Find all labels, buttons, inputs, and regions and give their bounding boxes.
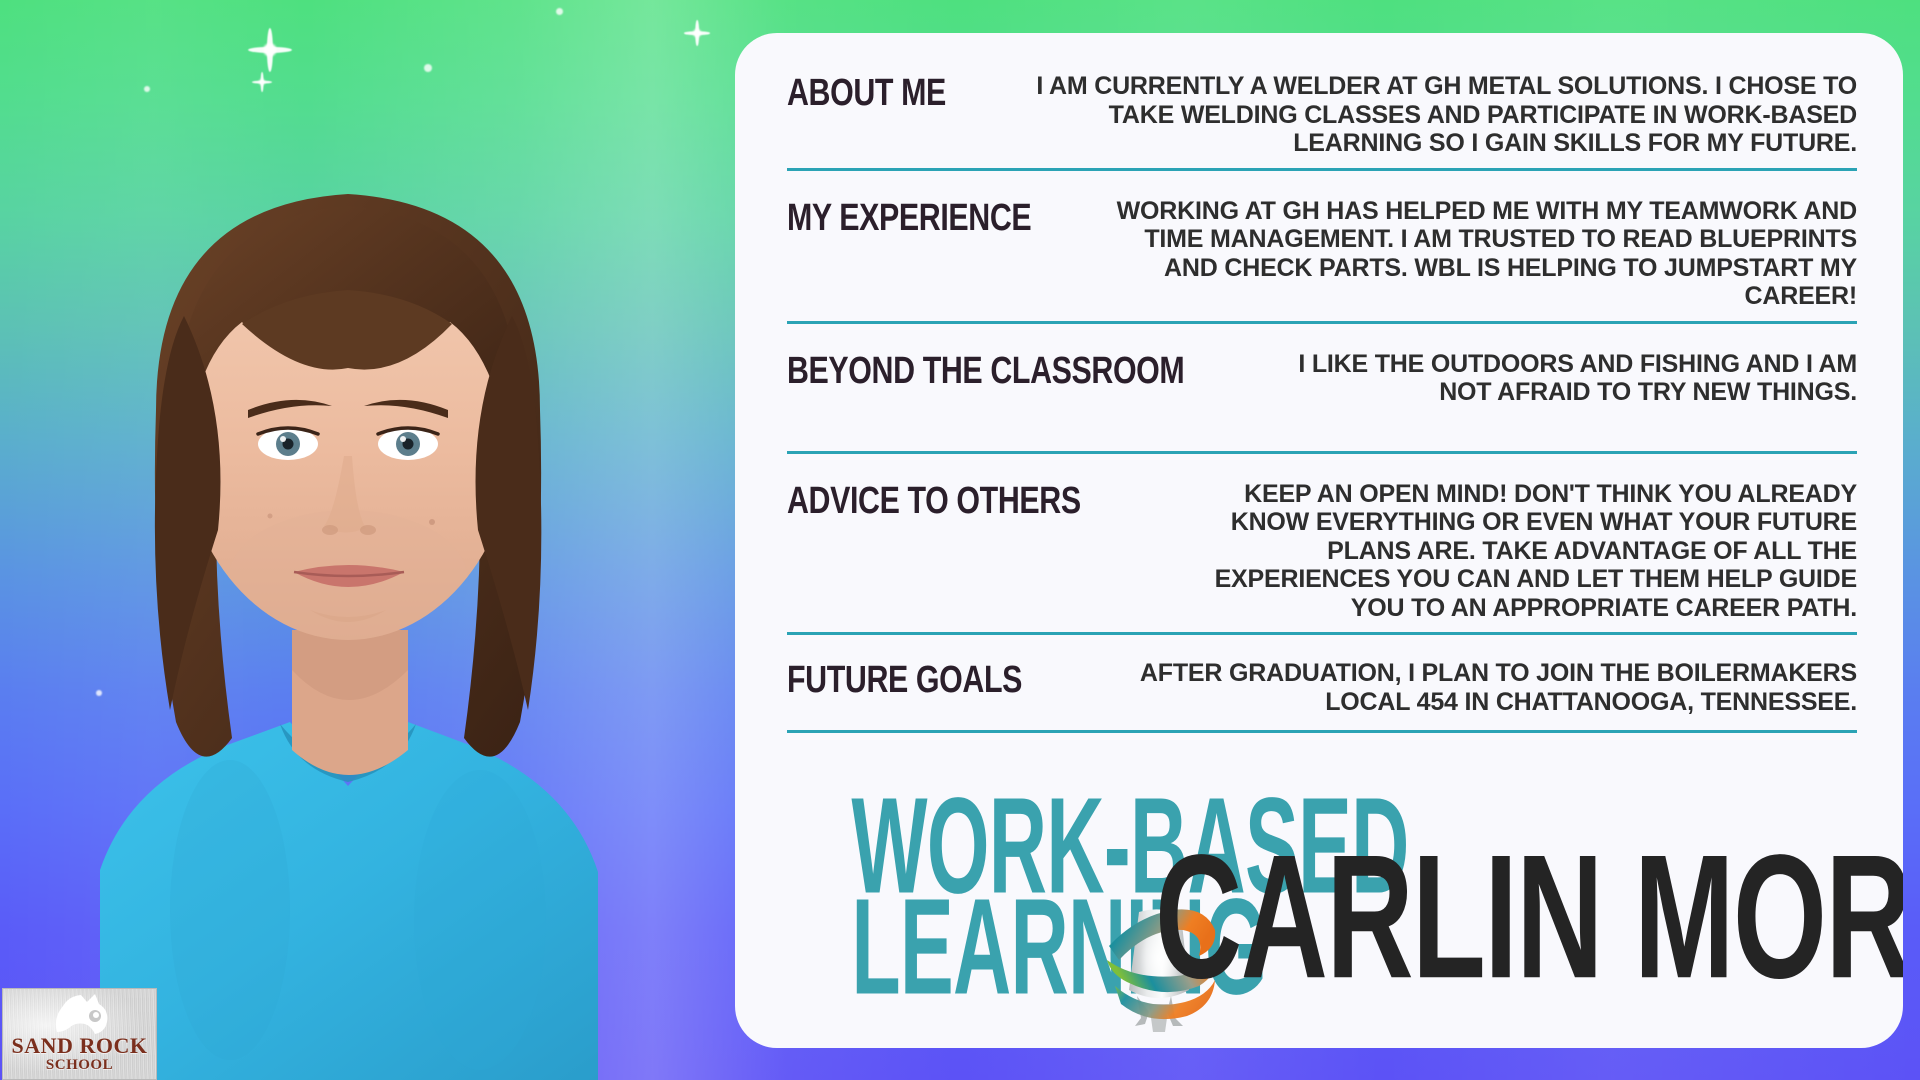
school-logo-badge: SAND ROCK SCHOOL [2,988,157,1080]
sparkle-icon [252,72,272,92]
section-title: ABOUT ME [787,72,946,111]
section-title: MY EXPERIENCE [787,197,1031,236]
section-divider [787,730,1857,733]
section-future-goals: FUTURE GOALS AFTER GRADUATION, I PLAN TO… [787,635,1857,733]
sparkle-dot-icon [300,520,307,527]
spotlight-graphic: SAND ROCK SCHOOL ABOUT ME I AM CURRENTLY… [0,0,1920,1080]
branding-area: WORK-BASED LEARNING [735,748,1903,1048]
sparkle-dot-icon [424,64,432,72]
section-body: I AM CURRENTLY A WELDER AT GH METAL SOLU… [1000,72,1857,158]
section-body: AFTER GRADUATION, I PLAN TO JOIN THE BOI… [1095,659,1857,716]
program-wordmark: WORK-BASED LEARNING [745,811,1125,1002]
section-title: ADVICE TO OTHERS [787,480,1081,519]
content-card: ABOUT ME I AM CURRENTLY A WELDER AT GH M… [735,33,1903,1048]
school-name-line2: SCHOOL [3,1057,156,1074]
sections-list: ABOUT ME I AM CURRENTLY A WELDER AT GH M… [787,68,1857,733]
sparkle-dot-icon [144,86,150,92]
section-my-experience: MY EXPERIENCE WORKING AT GH HAS HELPED M… [787,171,1857,324]
sparkle-dot-icon [556,8,563,15]
sparkle-icon [248,28,292,72]
wildcat-head-icon [51,992,113,1036]
section-advice-to-others: ADVICE TO OTHERS KEEP AN OPEN MIND! DON'… [787,454,1857,636]
student-portrait [0,110,740,1080]
section-body: I LIKE THE OUTDOORS AND FISHING AND I AM… [1298,350,1857,407]
sparkle-icon [684,20,710,46]
section-about-me: ABOUT ME I AM CURRENTLY A WELDER AT GH M… [787,68,1857,171]
program-wordmark-line2: LEARNING [851,893,1125,1002]
section-beyond-the-classroom: BEYOND THE CLASSROOM I LIKE THE OUTDOORS… [787,324,1857,454]
sparkle-dot-icon [520,392,529,401]
section-body: KEEP AN OPEN MIND! DON'T THINK YOU ALREA… [1168,480,1857,623]
section-title: BEYOND THE CLASSROOM [787,350,1184,389]
section-title: FUTURE GOALS [787,659,1022,698]
section-body: WORKING AT GH HAS HELPED ME WITH MY TEAM… [1106,197,1857,311]
student-name: CARLIN MORGAN [1155,845,1743,990]
sparkle-dot-icon [96,690,102,696]
school-name-line1: SAND ROCK [3,1033,156,1059]
